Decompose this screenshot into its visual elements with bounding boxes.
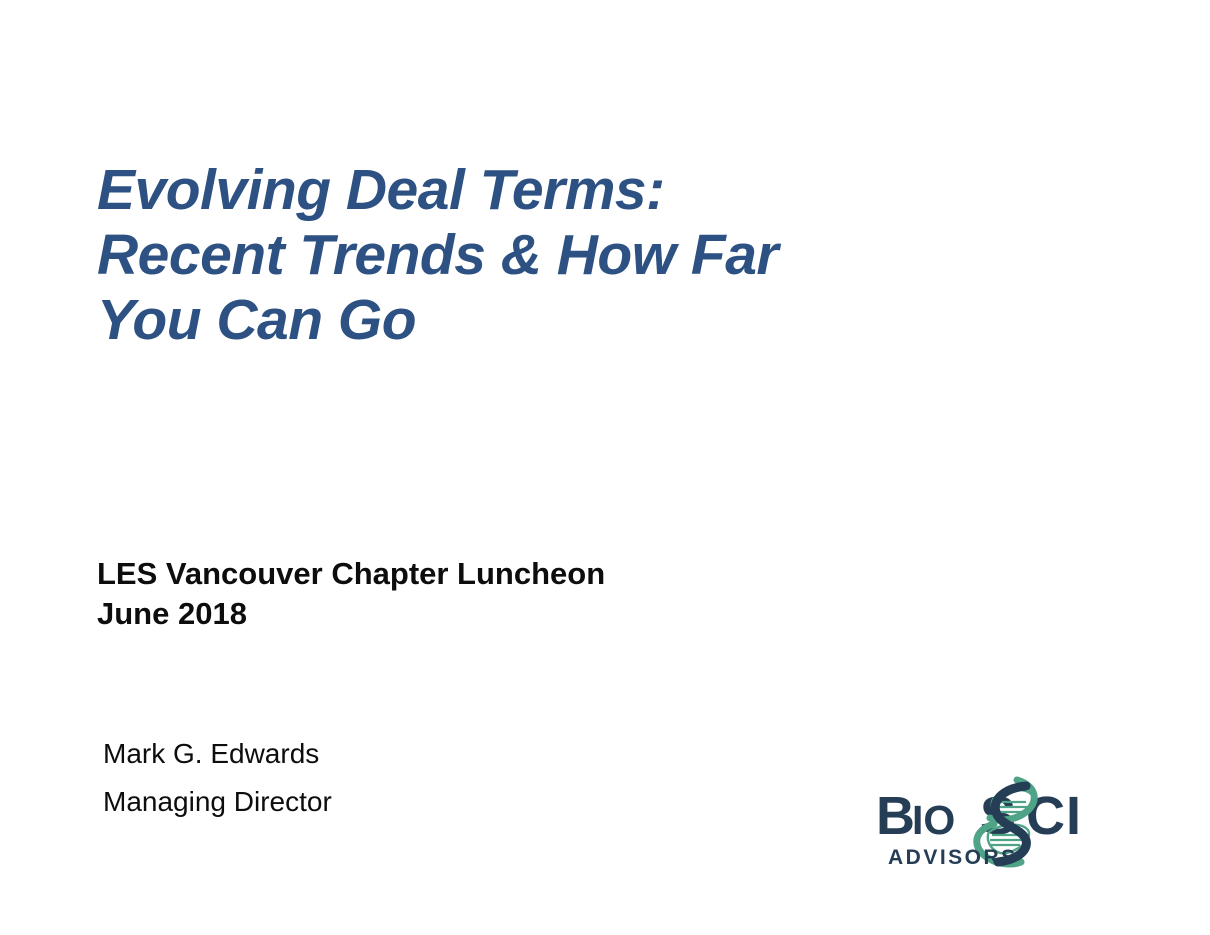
slide-title: Evolving Deal Terms: Recent Trends & How…	[97, 158, 857, 353]
slide-event-info: LES Vancouver Chapter Luncheon June 2018	[97, 554, 857, 634]
title-line-2: Recent Trends & How Far	[97, 223, 857, 288]
logo-artwork: B IO S CI	[876, 772, 1138, 870]
biosci-advisors-logo: B IO S CI	[876, 772, 1138, 870]
logo-letters-io: IO	[912, 797, 955, 843]
logo-tagline: ADVISORS	[888, 846, 1018, 869]
presentation-slide: Evolving Deal Terms: Recent Trends & How…	[0, 0, 1210, 935]
event-name: LES Vancouver Chapter Luncheon	[97, 554, 857, 594]
event-date: June 2018	[97, 594, 857, 634]
slide-presenter-info: Mark G. Edwards Managing Director	[103, 730, 703, 826]
title-line-1: Evolving Deal Terms:	[97, 158, 857, 223]
presenter-name: Mark G. Edwards	[103, 730, 703, 778]
presenter-role: Managing Director	[103, 778, 703, 826]
title-line-3: You Can Go	[97, 288, 857, 353]
logo-letter-b: B	[876, 786, 914, 846]
